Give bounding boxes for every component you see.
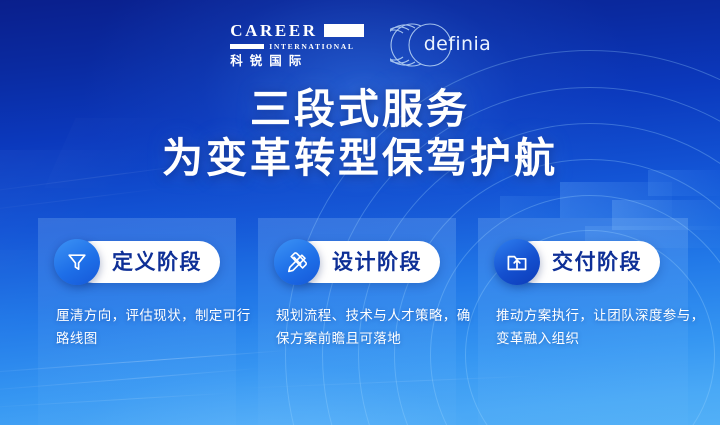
- stage-title: 设计阶段: [332, 252, 422, 273]
- career-international-logo: CAREER INTERNATIONAL 科锐国际: [230, 22, 363, 68]
- headline-line-1: 三段式服务: [0, 88, 720, 131]
- bg-block: [500, 196, 570, 218]
- stage-item-deliver[interactable]: 交付阶段 推动方案执行，让团队深度参与，变革融入组织: [478, 218, 703, 425]
- definia-logo-word: definia: [424, 33, 491, 55]
- career-logo-wordmark-row: CAREER: [230, 22, 363, 39]
- career-logo-subtitle: INTERNATIONAL: [269, 42, 354, 51]
- logo-row: CAREER INTERNATIONAL 科锐国际 definia: [0, 22, 720, 68]
- funnel-icon: [54, 239, 100, 285]
- stage-header: 交付阶段: [494, 240, 660, 284]
- definia-logo: definia: [390, 23, 490, 67]
- stage-header: 定义阶段: [54, 240, 220, 284]
- stage-title: 交付阶段: [552, 252, 642, 273]
- stage-item-design[interactable]: 设计阶段 规划流程、技术与人才策略，确保方案前瞻且可落地: [258, 218, 473, 425]
- stage-header: 设计阶段: [274, 240, 440, 284]
- stage-description: 规划流程、技术与人才策略，确保方案前瞻且可落地: [276, 304, 471, 350]
- bg-block: [560, 182, 672, 218]
- stage-description: 推动方案执行，让团队深度参与，变革融入组织: [496, 304, 706, 350]
- promo-banner: CAREER INTERNATIONAL 科锐国际 definia: [0, 0, 720, 425]
- career-logo-word: CAREER: [230, 22, 317, 39]
- bg-streak: [0, 187, 168, 215]
- stage-title: 定义阶段: [112, 252, 202, 273]
- pencil-ruler-icon: [274, 239, 320, 285]
- headline-line-2: 为变革转型保驾护航: [0, 137, 720, 180]
- career-logo-block: [324, 24, 364, 37]
- stage-description: 厘清方向，评估现状，制定可行路线图: [56, 304, 251, 350]
- career-logo-bar: [230, 44, 264, 49]
- stage-item-define[interactable]: 定义阶段 厘清方向，评估现状，制定可行路线图: [38, 218, 248, 425]
- page-title: 三段式服务 为变革转型保驾护航: [0, 88, 720, 181]
- career-logo-chinese: 科锐国际: [230, 55, 308, 68]
- stage-list: 定义阶段 厘清方向，评估现状，制定可行路线图: [0, 218, 720, 425]
- career-logo-subtitle-row: INTERNATIONAL: [230, 42, 363, 51]
- folder-upload-icon: [494, 239, 540, 285]
